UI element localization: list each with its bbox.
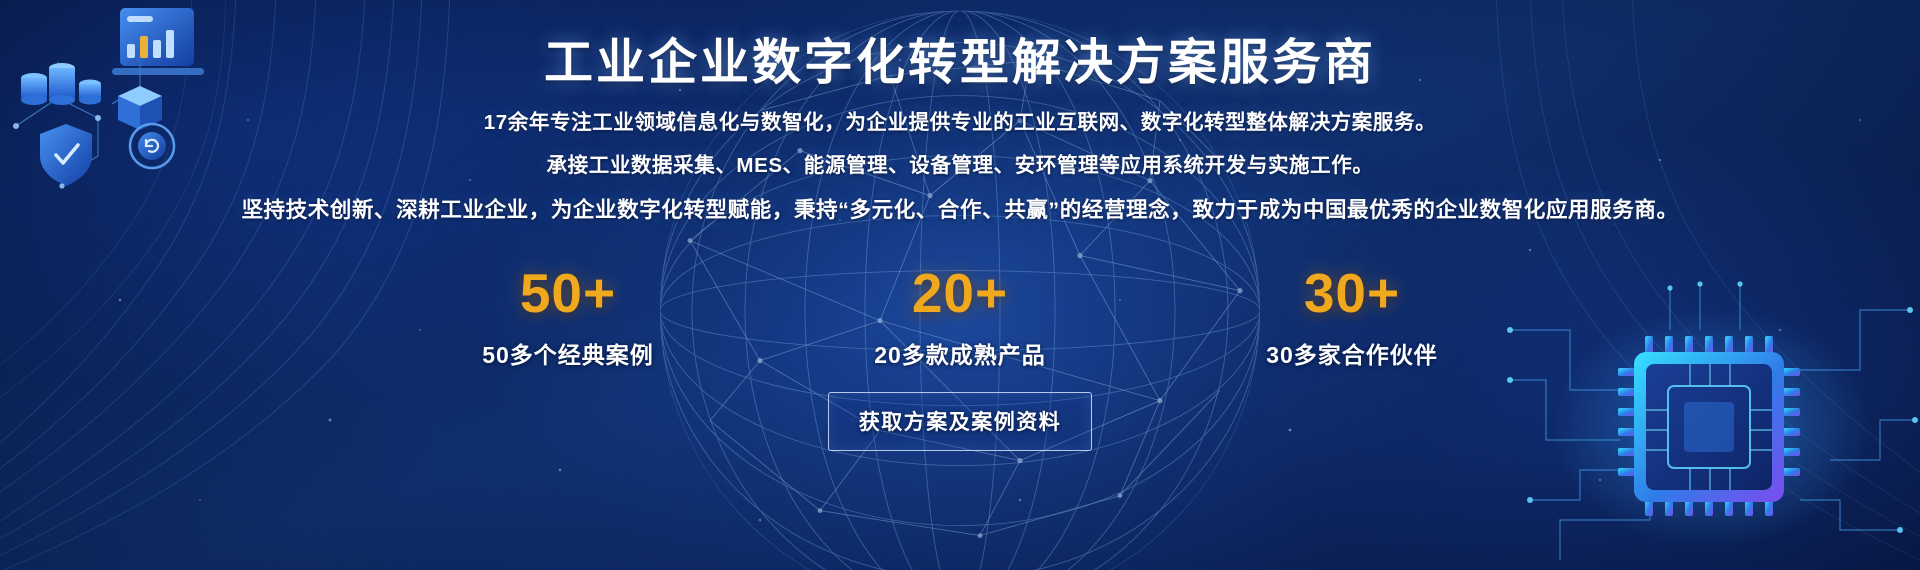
- stat-item: 30+ 30多家合作伙伴: [1244, 266, 1460, 370]
- subtitle-block: 17余年专注工业领域信息化与数智化，为企业提供专业的工业互联网、数字化转型整体解…: [241, 113, 1678, 245]
- stat-number: 30+: [1244, 266, 1460, 321]
- stat-label: 50多个经典案例: [460, 336, 676, 370]
- stats-row: 50+ 50多个经典案例 20+ 20多款成熟产品 30+ 30多家合作伙伴: [460, 266, 1460, 370]
- subtitle-line-3: 坚持技术创新、深耕工业企业，为企业数字化转型赋能，秉持“多元化、合作、共赢”的经…: [241, 200, 1678, 222]
- stat-number: 50+: [460, 266, 676, 321]
- stat-item: 20+ 20多款成熟产品: [852, 266, 1068, 370]
- cta-wrapper: 获取方案及案例资料: [828, 392, 1093, 451]
- stat-item: 50+ 50多个经典案例: [460, 266, 676, 370]
- get-solution-button[interactable]: 获取方案及案例资料: [828, 392, 1093, 451]
- subtitle-line-1: 17余年专注工业领域信息化与数智化，为企业提供专业的工业互联网、数字化转型整体解…: [241, 113, 1678, 134]
- stat-label: 20多款成熟产品: [852, 336, 1068, 370]
- banner-content: 工业企业数字化转型解决方案服务商 17余年专注工业领域信息化与数智化，为企业提供…: [0, 0, 1920, 570]
- stat-label: 30多家合作伙伴: [1244, 336, 1460, 370]
- subtitle-line-2: 承接工业数据采集、MES、能源管理、设备管理、安环管理等应用系统开发与实施工作。: [241, 156, 1678, 177]
- page-title: 工业企业数字化转型解决方案服务商: [544, 36, 1376, 91]
- stat-number: 20+: [852, 266, 1068, 321]
- hero-banner: 工业企业数字化转型解决方案服务商 17余年专注工业领域信息化与数智化，为企业提供…: [0, 0, 1920, 570]
